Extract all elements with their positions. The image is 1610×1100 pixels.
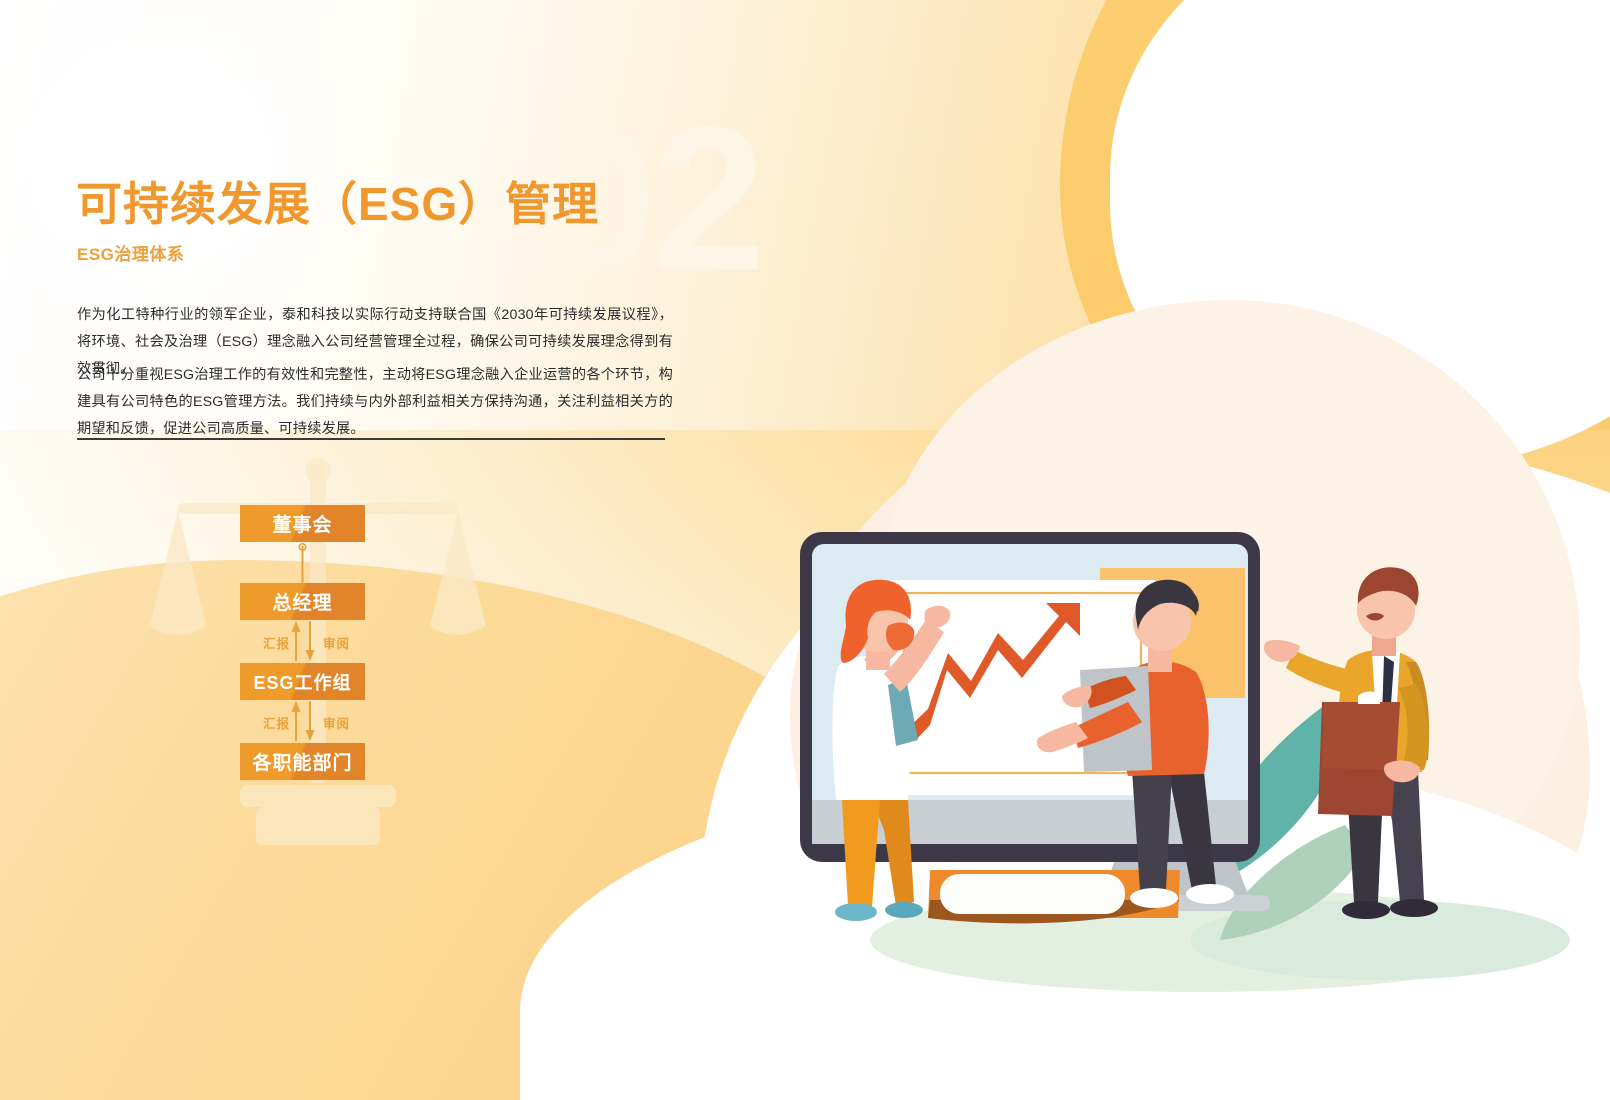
org-box-board[interactable]: 董事会 (240, 505, 365, 542)
page-title: 可持续发展（ESG）管理 (76, 168, 599, 234)
connector-label-report-1: 汇报 (263, 633, 290, 652)
book-pages (940, 874, 1125, 914)
section-subtitle: ESG治理体系 (77, 240, 184, 265)
connector-label-review-1: 审阅 (323, 633, 350, 652)
body-paragraph-2: 公司十分重视ESG治理工作的有效性和完整性，主动将ESG理念融入企业运营的各个环… (77, 362, 673, 443)
org-box-functional-departments[interactable]: 各职能部门 (240, 743, 365, 780)
team-growth-chart-illustration (780, 470, 1570, 1000)
slide-page: 02 可持续发展（ESG）管理 ESG治理体系 作为化工特种行业的领军企业，泰和… (0, 0, 1610, 1100)
org-box-esg-working-group[interactable]: ESG工作组 (240, 663, 365, 700)
org-box-general-manager[interactable]: 总经理 (240, 583, 365, 620)
connector-label-review-2: 审阅 (323, 713, 350, 732)
connector-label-report-2: 汇报 (263, 713, 290, 732)
esg-governance-org-chart: 董事会 总经理 ESG工作组 各职能部门 汇报 审阅 汇报 审阅 (148, 455, 488, 845)
section-divider (77, 438, 665, 440)
